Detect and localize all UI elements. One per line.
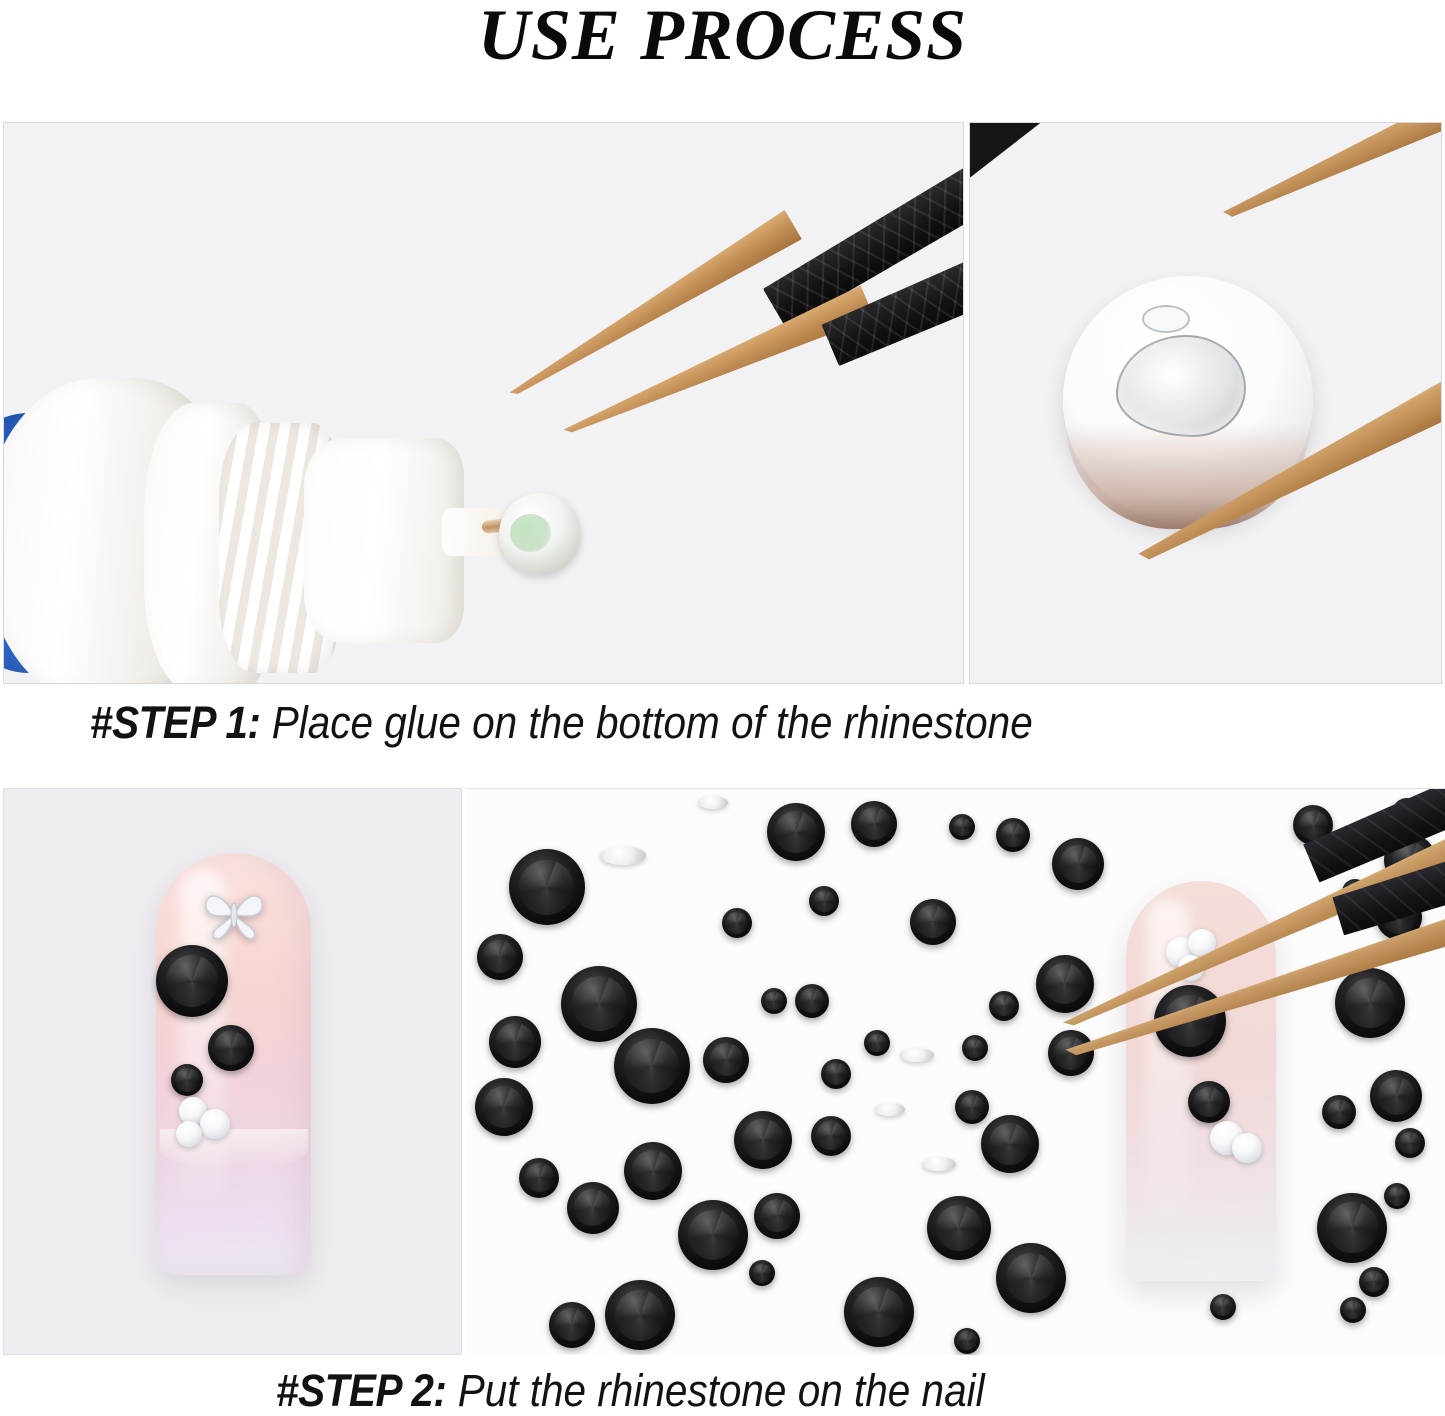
- rhinestone-black: [910, 899, 956, 945]
- rhinestone-black: [567, 1182, 619, 1234]
- rhinestone-black: [996, 818, 1030, 852]
- rhinestone-black: [761, 988, 787, 1014]
- rhinestone-black: [1340, 1297, 1366, 1323]
- black-rhinestones-scatter-photo: [466, 788, 1445, 1355]
- rhinestone-black: [475, 1078, 533, 1136]
- step-1-image-row: [3, 122, 1442, 684]
- rhinestone-black: [996, 1243, 1066, 1313]
- step-1-text: Place glue on the bottom of the rhinesto…: [260, 697, 1032, 748]
- decorated-nail-photo: [3, 788, 462, 1355]
- rhinestone-silver-back: [600, 846, 646, 865]
- tweezers-upper-tip-icon: [500, 210, 802, 407]
- butterfly-icon: [200, 885, 268, 941]
- rhinestone-black: [722, 908, 752, 938]
- rhinestone-black: [844, 1277, 914, 1347]
- rhinestone-clear-2: [200, 1109, 230, 1139]
- rhinestone-black: [1052, 838, 1104, 890]
- rhinestone-black: [754, 1193, 800, 1239]
- rhinestone-black: [1370, 1070, 1422, 1122]
- glue-bottle-neck: [304, 438, 464, 643]
- step-2-image-row: [3, 788, 1445, 1355]
- glue-bubble-icon: [1142, 305, 1190, 333]
- rhinestone-black-large: [156, 945, 228, 1017]
- rhinestone-field: [466, 789, 1445, 1355]
- rhinestone-black: [981, 1115, 1039, 1173]
- rhinestone-black: [614, 1028, 690, 1104]
- glue-bottle-tweezers-photo: [3, 122, 964, 684]
- rhinestone-black: [477, 934, 523, 980]
- rhinestone-black: [1359, 1267, 1389, 1297]
- rhinestone-black: [767, 803, 825, 861]
- tweezers-lower-tip-icon: [557, 285, 875, 447]
- rhinestone-black: [1317, 1193, 1387, 1263]
- rhinestone-black: [749, 1260, 775, 1286]
- rhinestone-black: [989, 991, 1019, 1021]
- rhinestone-black: [624, 1142, 682, 1200]
- tweezers-grip-corner-icon: [969, 122, 1048, 187]
- rhinestone-black: [1210, 1294, 1236, 1320]
- rhinestone-black: [1322, 1095, 1356, 1129]
- rhinestone-icon: [499, 493, 581, 575]
- rhinestone-black: [1036, 955, 1094, 1013]
- rhinestone-black: [955, 1090, 989, 1124]
- rhinestone-rim: [1066, 423, 1310, 529]
- rhinestone-clear-3: [176, 1121, 202, 1147]
- rhinestone-black: [962, 1035, 988, 1061]
- rhinestone-black: [519, 1158, 559, 1198]
- rhinestone-black: [1395, 1128, 1425, 1158]
- step-1-caption: #STEP 1: Place glue on the bottom of the…: [90, 700, 1033, 745]
- rhinestone-black: [734, 1111, 792, 1169]
- rhinestone-black: [1048, 1030, 1094, 1076]
- rhinestone-black: [678, 1200, 748, 1270]
- rhinestone-black: [927, 1196, 991, 1260]
- rhinestone-black-medium: [208, 1025, 254, 1071]
- rhinestone-black: [809, 886, 839, 916]
- step-1-label: #STEP 1:: [90, 697, 260, 748]
- tweezers-upper-tip-icon: [1214, 122, 1442, 227]
- rhinestone-black: [549, 1302, 595, 1348]
- rhinestone-black: [605, 1280, 675, 1350]
- rhinestone-black: [703, 1037, 749, 1083]
- rhinestone-black: [864, 1030, 890, 1056]
- rhinestone-silver-back: [875, 1103, 905, 1116]
- rhinestone-black: [949, 814, 975, 840]
- rhinestone-black-on-nail-2: [1188, 1081, 1230, 1123]
- step-2-text: Put the rhinestone on the nail: [446, 1365, 984, 1416]
- rhinestone-black-small: [171, 1064, 203, 1096]
- rhinestone-black: [821, 1059, 851, 1089]
- step-2-caption: #STEP 2: Put the rhinestone on the nail: [276, 1368, 985, 1413]
- rhinestone-black: [795, 984, 829, 1018]
- rhinestone-black: [561, 966, 637, 1042]
- rhinestone-silver-back: [900, 1048, 934, 1062]
- rhinestone-glue-closeup-photo: [969, 122, 1442, 684]
- page-title: USE PROCESS: [0, 0, 1445, 72]
- rhinestone-black: [489, 1016, 541, 1068]
- step-2-label: #STEP 2:: [276, 1365, 446, 1416]
- rhinestone-black: [509, 849, 585, 925]
- rhinestone-silver-back: [922, 1157, 956, 1171]
- rhinestone-silver-back: [698, 796, 728, 809]
- rhinestone-clear-on-nail-5: [1232, 1133, 1262, 1163]
- rhinestone-black: [811, 1116, 851, 1156]
- rhinestone-black: [954, 1328, 980, 1354]
- rhinestone-black: [1335, 968, 1405, 1038]
- rhinestone-black: [851, 801, 897, 847]
- rhinestone-black: [1384, 1183, 1410, 1209]
